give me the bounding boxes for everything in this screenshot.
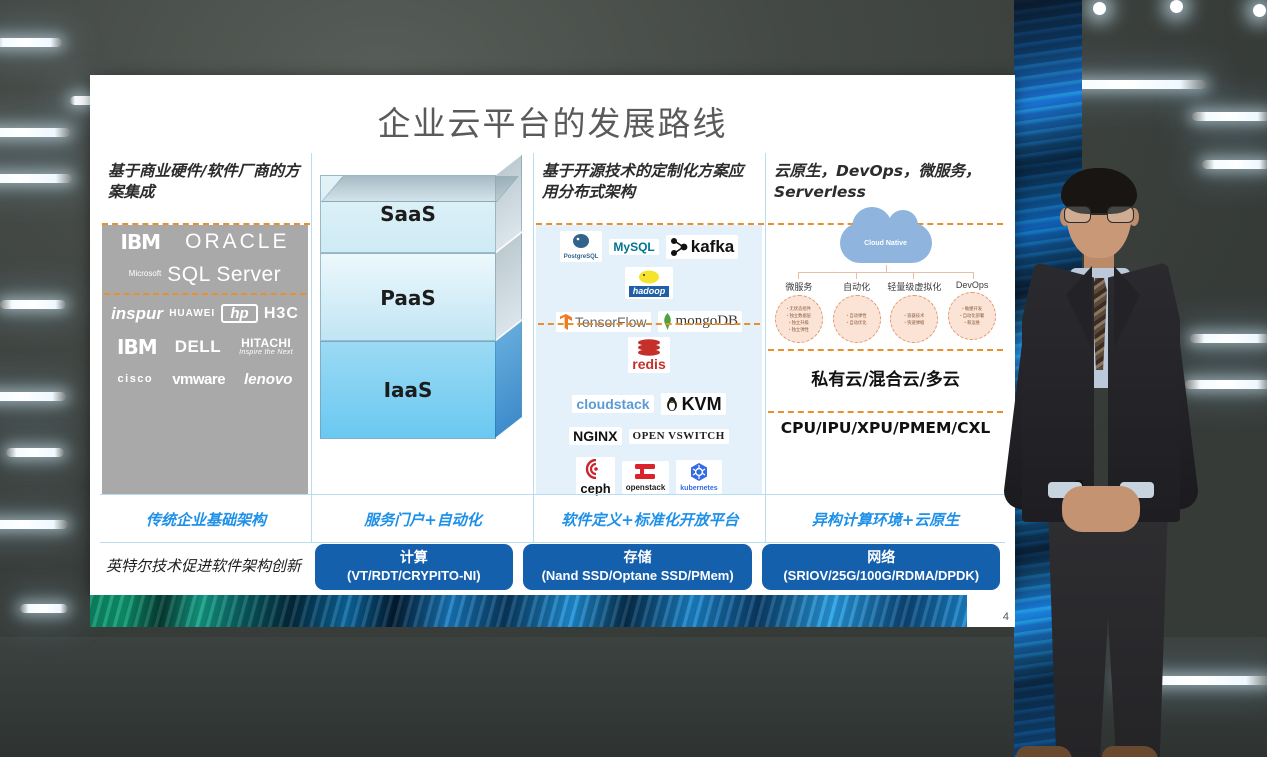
connector-drop: [913, 272, 914, 279]
nginx-label: NGINX: [573, 429, 617, 443]
cloudstack-logo: cloudstack: [572, 395, 653, 413]
tech-logo-panel: PostgreSQL MySQL kafka: [536, 225, 762, 495]
branch-item: 容器技术: [904, 313, 924, 319]
presenter-legs: [1040, 512, 1176, 757]
branch-item: 自动弹性: [847, 313, 867, 319]
ceph-swirl-icon: [585, 459, 607, 479]
branch-title: 轻量级虚拟化: [886, 280, 944, 293]
intel-note: 英特尔技术促进软件架构创新: [100, 557, 310, 577]
ceiling-light-dot: [1253, 4, 1266, 17]
yellow-elephant-icon: [637, 269, 661, 285]
openstack-logo: openstack: [622, 461, 670, 494]
pill-storage-title: 存储: [527, 550, 749, 568]
iaas-layer: IaaS: [320, 341, 496, 439]
kubernetes-label: kubernetes: [680, 485, 717, 492]
kubernetes-helm-icon: [689, 462, 709, 482]
presenter-person: [1000, 150, 1230, 757]
branch-item: 敏捷开发: [962, 306, 982, 312]
page-number: 4: [1003, 611, 1009, 623]
paas-layer: PaaS: [320, 253, 496, 341]
column-4-header: 云原生，DevOps，微服务，Serverless: [766, 153, 1005, 203]
presenter-hands: [1062, 486, 1140, 532]
pill-network-detail: (SRIOV/25G/100G/RDMA/DPDK): [766, 568, 996, 584]
lenovo-logo: lenovo: [244, 372, 292, 387]
wall-light-bar: [0, 300, 66, 309]
vendor-logo-row: Microsoft SQL Server: [102, 258, 308, 291]
sqlserver-logo: Microsoft SQL Server: [129, 264, 281, 285]
leaf-icon: [662, 313, 673, 330]
column-opensource-tech: 基于开源技术的定制化方案应用分布式架构 PostgreSQL MySQL: [534, 153, 766, 495]
vendor-logo-row: IBM DELL HITACHI Inspire the Next: [102, 330, 308, 363]
ceph-logo: ceph: [576, 457, 614, 497]
intel-technology-row: 英特尔技术促进软件架构创新 计算 (VT/RDT/CRYPITO-NI) 存储 …: [100, 543, 1005, 591]
tech-logo-row: cloudstack KVM: [536, 387, 762, 421]
cloudstack-label: cloudstack: [576, 397, 649, 411]
mongodb-label: mongoDB: [676, 314, 739, 329]
cloud-branch-row: 微服务 无状态组件 独立数据层 独立升级 独立弹性 自动化 自动弹性 自动优化: [770, 280, 1001, 343]
column-cloud-native: 云原生，DevOps，微服务，Serverless Cloud Native 微…: [766, 153, 1005, 495]
ceiling-light-dot: [1170, 0, 1183, 13]
openvswitch-logo: OPEN VSWITCH: [629, 429, 729, 444]
h3c-logo: H3C: [264, 306, 299, 322]
vendor-logo-row: cisco vmware lenovo: [102, 363, 308, 396]
redis-stack-icon: [637, 339, 661, 356]
cube-side-face: [495, 321, 522, 438]
branch-circle: 敏捷开发 自动化部署 和运维: [948, 292, 996, 340]
branch-lightweight-virtualization: 轻量级虚拟化 容器技术 快速弹缩: [886, 280, 944, 343]
branch-title: 微服务: [770, 280, 828, 293]
tensorflow-label: TensorFlow: [575, 315, 647, 329]
postgresql-label: PostgreSQL: [564, 254, 599, 260]
cloud-native-label: Cloud Native: [840, 223, 932, 263]
pill-storage[interactable]: 存储 (Nand SSD/Optane SSD/PMem): [523, 544, 753, 590]
penguin-icon: [665, 397, 679, 411]
tech-logo-row: NGINX OPEN VSWITCH: [536, 421, 762, 451]
pill-compute-detail: (VT/RDT/CRYPITO-NI): [319, 568, 509, 584]
tech-logo-row: TensorFlow mongoDB r: [536, 305, 762, 379]
pill-network[interactable]: 网络 (SRIOV/25G/100G/RDMA/DPDK): [762, 544, 1000, 590]
glasses-bridge: [1091, 213, 1107, 215]
pill-network-title: 网络: [766, 550, 996, 568]
wall-light-bar: [6, 448, 64, 457]
wall-light-bar: [0, 392, 66, 401]
sqlserver-label: SQL Server: [167, 264, 281, 285]
ceiling-light-dot: [1093, 2, 1106, 15]
saas-layer: SaaS: [320, 175, 496, 253]
branch-item: 自动优化: [847, 320, 867, 326]
presentation-slide: 企业云平台的发展路线 基于商业硬件/软件厂商的方案集成 IBM ORACLE M…: [90, 75, 1015, 595]
oracle-logo: ORACLE: [185, 231, 289, 252]
hitachi-label: HITACHI: [241, 336, 291, 350]
pill-compute-title: 计算: [319, 550, 509, 568]
tech-logo-row: PostgreSQL MySQL kafka: [536, 225, 762, 305]
branch-circle: 容器技术 快速弹缩: [890, 295, 938, 343]
presenter-shoe-right: [1102, 746, 1158, 757]
hitachi-logo: HITACHI Inspire the Next: [239, 337, 293, 356]
summary-col-4: 异构计算环境+云原生: [766, 509, 1005, 530]
inspur-logo: inspur: [111, 305, 163, 322]
branch-automation: 自动化 自动弹性 自动优化: [828, 280, 886, 343]
mysql-label: MySQL: [613, 241, 654, 253]
cloud-service-stack: SaaS PaaS IaaS: [320, 149, 525, 445]
kvm-label: KVM: [682, 395, 722, 413]
glasses-lens-left: [1064, 206, 1091, 223]
openstack-icon: [634, 463, 656, 481]
dell-logo: DELL: [175, 338, 221, 355]
openvswitch-label: OPEN VSWITCH: [633, 431, 725, 442]
branch-title: 自动化: [828, 280, 886, 293]
branch-devops: DevOps 敏捷开发 自动化部署 和运维: [943, 280, 1001, 343]
summary-col-3: 软件定义+标准化开放平台: [534, 509, 766, 530]
wall-light-bar: [0, 174, 72, 183]
redis-logo: redis: [628, 337, 669, 373]
glasses-lens-right: [1107, 206, 1134, 223]
branch-item: 独立弹性: [789, 327, 809, 333]
connector-drop: [856, 272, 857, 279]
branch-item: 独立数据层: [787, 313, 811, 319]
cloud-types-label: 私有云/混合云/多云: [766, 349, 1005, 406]
kafka-nodes-icon: [670, 237, 688, 257]
column-service-stack: SaaS PaaS IaaS: [312, 153, 534, 495]
mongodb-logo: mongoDB: [658, 311, 743, 332]
microsoft-label: Microsoft: [129, 270, 161, 279]
dashed-divider: [104, 293, 306, 295]
branch-circle: 无状态组件 独立数据层 独立升级 独立弹性: [775, 295, 823, 343]
paas-label: PaaS: [321, 286, 495, 310]
branch-item: 自动化部署: [960, 313, 984, 319]
column-3-header: 基于开源技术的定制化方案应用分布式架构: [534, 153, 766, 203]
kubernetes-logo: kubernetes: [676, 460, 721, 494]
column-1-header: 基于商业硬件/软件厂商的方案集成: [100, 153, 312, 203]
wall-light-bar: [1192, 112, 1267, 121]
wall-light-bar: [0, 38, 62, 47]
postgresql-logo: PostgreSQL: [560, 231, 603, 262]
kafka-label: kafka: [691, 238, 734, 255]
wall-light-bar: [0, 128, 70, 137]
wall-light-bar: [20, 604, 68, 613]
cisco-logo: cisco: [118, 374, 154, 385]
summary-col-1: 传统企业基础架构: [100, 509, 312, 530]
cube-top-face: [321, 176, 519, 202]
vmware-logo: vmware: [172, 372, 225, 387]
pill-compute[interactable]: 计算 (VT/RDT/CRYPITO-NI): [315, 544, 513, 590]
branch-connector: [786, 265, 985, 279]
kafka-logo: kafka: [666, 235, 738, 259]
presenter-shoe-left: [1016, 746, 1072, 757]
connector-horizontal: [798, 272, 973, 273]
presenter-glasses: [1064, 206, 1134, 223]
connector-drop: [798, 272, 799, 279]
pill-storage-detail: (Nand SSD/Optane SSD/PMem): [527, 568, 749, 584]
nginx-logo: NGINX: [569, 427, 621, 445]
ibm-logo: IBM: [121, 232, 161, 252]
tensorflow-icon: [560, 314, 572, 330]
decorative-swoosh-ribbon: [90, 595, 1015, 627]
vendor-logo-row: inspur HUAWEI hp H3C: [102, 297, 308, 330]
branch-circle: 自动弹性 自动优化: [833, 295, 881, 343]
summary-strip: 传统企业基础架构 服务门户+自动化 软件定义+标准化开放平台 异构计算环境+云原…: [100, 495, 1005, 543]
hadoop-label: hadoop: [629, 286, 670, 297]
kvm-logo: KVM: [661, 393, 726, 415]
openstack-label: openstack: [626, 484, 666, 492]
vendor-logo-row: IBM ORACLE: [102, 225, 308, 258]
branch-microservices: 微服务 无状态组件 独立数据层 独立升级 独立弹性: [770, 280, 828, 343]
cloud-shape-icon: Cloud Native: [840, 223, 932, 263]
branch-title: DevOps: [943, 280, 1001, 290]
mysql-logo: MySQL: [609, 239, 658, 255]
redis-label: redis: [632, 357, 665, 371]
iaas-label: IaaS: [321, 378, 495, 402]
branch-item: 快速弹缩: [904, 320, 924, 326]
page-title: 企业云平台的发展路线: [90, 97, 1015, 145]
summary-col-2: 服务门户+自动化: [312, 509, 534, 530]
connector-drop: [973, 272, 974, 279]
hardware-label: CPU/IPU/XPU/PMEM/CXL: [766, 411, 1005, 437]
branch-item: 独立升级: [789, 320, 809, 326]
column-commercial-vendors: 基于商业硬件/软件厂商的方案集成 IBM ORACLE Microsoft SQ…: [100, 153, 312, 495]
dashed-divider: [538, 323, 760, 325]
saas-label: SaaS: [321, 202, 495, 226]
vendor-logo-panel: IBM ORACLE Microsoft SQL Server inspur H…: [102, 225, 308, 495]
wall-light-bar: [0, 520, 68, 529]
hitachi-tagline: Inspire the Next: [239, 349, 293, 356]
huawei-logo: HUAWEI: [169, 309, 215, 319]
branch-item: 无状态组件: [787, 306, 811, 312]
hadoop-logo: hadoop: [625, 267, 674, 299]
column-container: 基于商业硬件/软件厂商的方案集成 IBM ORACLE Microsoft SQ…: [100, 153, 1005, 495]
tensorflow-logo: TensorFlow: [556, 312, 651, 332]
elephant-icon: [571, 233, 591, 251]
cloud-native-diagram: Cloud Native 微服务 无状态组件 独立数据层: [770, 219, 1001, 343]
ibm-logo: IBM: [117, 337, 157, 357]
hp-logo: hp: [221, 304, 257, 323]
branch-item: 和运维: [964, 320, 980, 326]
connector-stem: [886, 265, 887, 272]
